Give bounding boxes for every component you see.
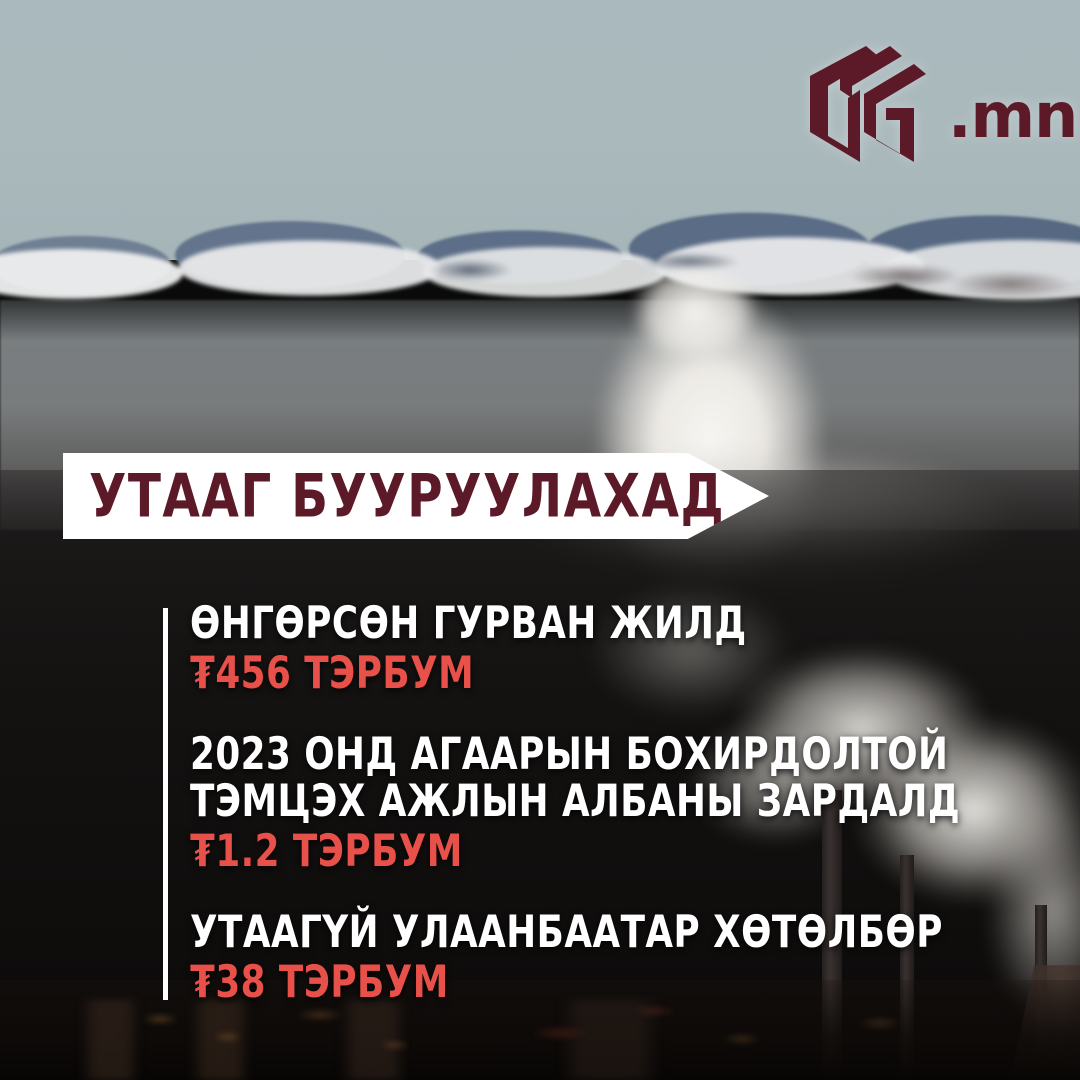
stats-list: ӨНГӨРСӨН ГУРВАН ЖИЛД ₮456 ТЭРБУМ 2023 ОН… (190, 600, 1040, 1006)
stat-label: ӨНГӨРСӨН ГУРВАН ЖИЛД (190, 596, 989, 650)
stat-value: ₮1.2 ТЭРБУМ (190, 824, 989, 879)
stat-item: УТААГҮЙ УЛААНБААТАР ХӨТӨЛБӨР ₮38 ТЭРБУМ (190, 909, 1040, 1006)
headline-arrow-banner: УТААГ БУУРУУЛАХАД (63, 453, 769, 539)
stat-value: ₮38 ТЭРБУМ (190, 955, 989, 1010)
smoke-plume-top (600, 236, 790, 386)
stat-item: ӨНГӨРСӨН ГУРВАН ЖИЛД ₮456 ТЭРБУМ (190, 600, 1040, 697)
stat-value: ₮456 ТЭРБУМ (190, 646, 989, 701)
headline-text: УТААГ БУУРУУЛАХАД (89, 461, 725, 531)
stat-item: 2023 ОНД АГААРЫН БОХИРДОЛТОЙ ТЭМЦЭХ АЖЛЫ… (190, 731, 1040, 875)
vertical-divider (163, 608, 168, 1000)
infographic-poster: .mn УТААГ БУУРУУЛАХАД ӨНГӨРСӨН ГУРВАН ЖИ… (0, 0, 1080, 1080)
stat-label-line2: ТЭМЦЭХ АЖЛЫН АЛБАНЫ ЗАРДАЛД (190, 774, 989, 828)
gg-mn-logo[interactable]: .mn (800, 40, 1077, 170)
logo-tld-text: .mn (948, 85, 1077, 147)
stat-label: УТААГҮЙ УЛААНБААТАР ХӨТӨЛБӨР (190, 905, 989, 959)
gg-hexagon-icon (800, 40, 950, 170)
